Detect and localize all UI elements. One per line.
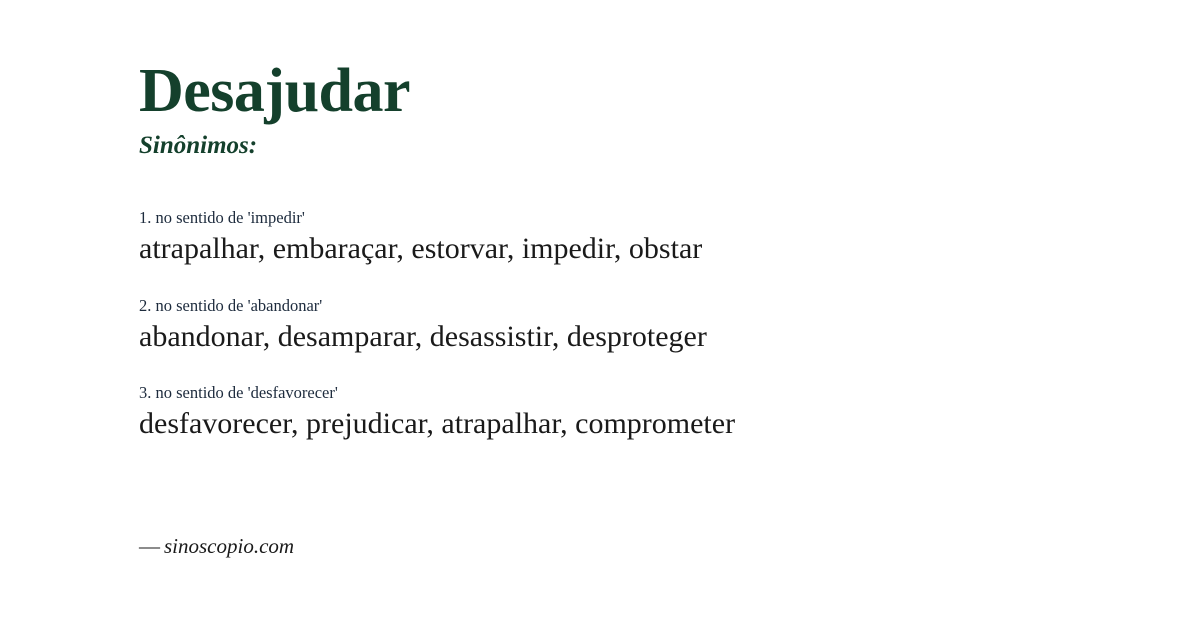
- thesaurus-card: Desajudar Sinônimos: 1. no sentido de 'i…: [0, 0, 1200, 628]
- em-dash: —: [139, 534, 164, 558]
- subtitle-synonyms-heading: Sinônimos:: [139, 133, 257, 158]
- sense-synonyms: abandonar, desamparar, desassistir, desp…: [139, 318, 1140, 356]
- source-attribution: —sinoscopio.com: [139, 534, 294, 559]
- sense-entry: 1. no sentido de 'impedir' atrapalhar, e…: [139, 207, 1140, 269]
- sense-label: 3. no sentido de 'desfavorecer': [139, 382, 1140, 403]
- sense-label: 1. no sentido de 'impedir': [139, 207, 1140, 228]
- source-name: sinoscopio.com: [164, 534, 294, 558]
- sense-synonyms: atrapalhar, embaraçar, estorvar, impedir…: [139, 230, 1140, 268]
- sense-entry: 3. no sentido de 'desfavorecer' desfavor…: [139, 382, 1140, 444]
- sense-label: 2. no sentido de 'abandonar': [139, 295, 1140, 316]
- sense-list: 1. no sentido de 'impedir' atrapalhar, e…: [139, 207, 1140, 444]
- page-title: Desajudar: [139, 60, 410, 122]
- sense-synonyms: desfavorecer, prejudicar, atrapalhar, co…: [139, 405, 1140, 443]
- sense-entry: 2. no sentido de 'abandonar' abandonar, …: [139, 295, 1140, 357]
